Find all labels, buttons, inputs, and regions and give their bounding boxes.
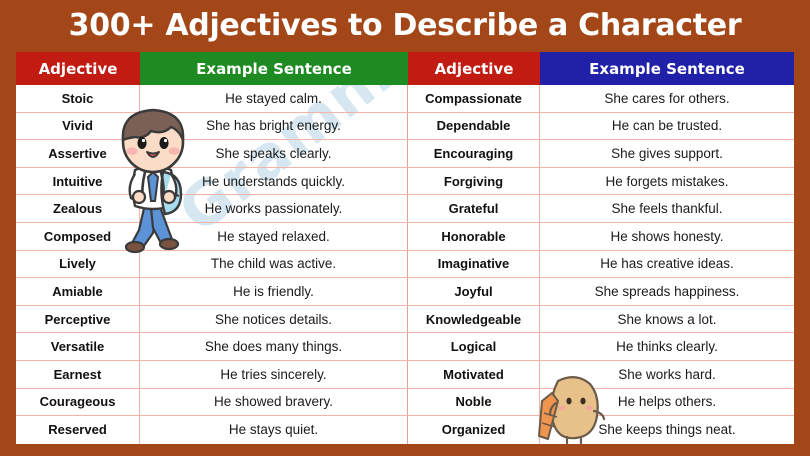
cell-adjective-right: Motivated [408, 361, 540, 388]
cell-adjective-right: Forgiving [408, 168, 540, 195]
cell-adjective-left: Composed [16, 223, 140, 250]
cell-sentence-left: She notices details. [140, 306, 408, 333]
cell-sentence-left: He is friendly. [140, 278, 408, 305]
cell-sentence-right: He can be trusted. [540, 113, 794, 140]
cell-adjective-right: Joyful [408, 278, 540, 305]
cell-sentence-left: He stayed calm. [140, 85, 408, 112]
table-row: EarnestHe tries sincerely.MotivatedShe w… [16, 361, 794, 389]
page-title: 300+ Adjectives to Describe a Character [69, 11, 742, 41]
table-row: ReservedHe stays quiet.OrganizedShe keep… [16, 416, 794, 444]
table-row: IntuitiveHe understands quickly.Forgivin… [16, 168, 794, 196]
cell-adjective-left: Versatile [16, 333, 140, 360]
cell-sentence-right: She feels thankful. [540, 195, 794, 222]
cell-sentence-left: He understands quickly. [140, 168, 408, 195]
cell-sentence-left: She does many things. [140, 333, 408, 360]
cell-sentence-right: She knows a lot. [540, 306, 794, 333]
adjectives-table: Grammareco Adjective Example Sentence Ad… [16, 52, 794, 444]
table-row: StoicHe stayed calm.CompassionateShe car… [16, 85, 794, 113]
table-body: StoicHe stayed calm.CompassionateShe car… [16, 85, 794, 444]
cell-adjective-right: Noble [408, 389, 540, 416]
column-header-adjective-left: Adjective [16, 52, 140, 85]
cell-adjective-left: Assertive [16, 140, 140, 167]
table-row: LivelyThe child was active.ImaginativeHe… [16, 251, 794, 279]
table-row: CourageousHe showed bravery.NobleHe help… [16, 389, 794, 417]
cell-adjective-right: Encouraging [408, 140, 540, 167]
infographic-page: 300+ Adjectives to Describe a Character … [0, 0, 810, 456]
table-row: AssertiveShe speaks clearly.EncouragingS… [16, 140, 794, 168]
table-row: AmiableHe is friendly.JoyfulShe spreads … [16, 278, 794, 306]
cell-sentence-right: She gives support. [540, 140, 794, 167]
cell-sentence-left: She speaks clearly. [140, 140, 408, 167]
cell-adjective-left: Zealous [16, 195, 140, 222]
cell-sentence-left: He showed bravery. [140, 389, 408, 416]
cell-sentence-right: He shows honesty. [540, 223, 794, 250]
cell-sentence-right: He has creative ideas. [540, 251, 794, 278]
table-row: ComposedHe stayed relaxed.HonorableHe sh… [16, 223, 794, 251]
table-row: PerceptiveShe notices details.Knowledgea… [16, 306, 794, 334]
table-row: VersatileShe does many things.LogicalHe … [16, 333, 794, 361]
title-banner: 300+ Adjectives to Describe a Character [0, 0, 810, 52]
cell-sentence-right: She keeps things neat. [540, 416, 794, 444]
cell-adjective-left: Intuitive [16, 168, 140, 195]
cell-sentence-right: She cares for others. [540, 85, 794, 112]
cell-sentence-left: He works passionately. [140, 195, 408, 222]
cell-adjective-left: Stoic [16, 85, 140, 112]
cell-adjective-right: Logical [408, 333, 540, 360]
cell-sentence-left: The child was active. [140, 251, 408, 278]
cell-adjective-right: Imaginative [408, 251, 540, 278]
cell-adjective-right: Compassionate [408, 85, 540, 112]
column-header-sentence-left: Example Sentence [140, 52, 408, 85]
table-row: VividShe has bright energy.DependableHe … [16, 113, 794, 141]
cell-sentence-right: He helps others. [540, 389, 794, 416]
cell-adjective-right: Knowledgeable [408, 306, 540, 333]
cell-sentence-left: She has bright energy. [140, 113, 408, 140]
cell-sentence-right: She spreads happiness. [540, 278, 794, 305]
cell-adjective-right: Grateful [408, 195, 540, 222]
column-header-sentence-right: Example Sentence [540, 52, 794, 85]
cell-adjective-left: Earnest [16, 361, 140, 388]
table-row: ZealousHe works passionately.GratefulShe… [16, 195, 794, 223]
cell-sentence-right: He thinks clearly. [540, 333, 794, 360]
cell-adjective-right: Honorable [408, 223, 540, 250]
cell-adjective-right: Dependable [408, 113, 540, 140]
cell-adjective-right: Organized [408, 416, 540, 444]
column-header-adjective-right: Adjective [408, 52, 540, 85]
cell-sentence-left: He stayed relaxed. [140, 223, 408, 250]
cell-adjective-left: Lively [16, 251, 140, 278]
cell-sentence-right: She works hard. [540, 361, 794, 388]
table-header-row: Adjective Example Sentence Adjective Exa… [16, 52, 794, 85]
cell-adjective-left: Perceptive [16, 306, 140, 333]
cell-adjective-left: Courageous [16, 389, 140, 416]
cell-adjective-left: Reserved [16, 416, 140, 444]
cell-adjective-left: Vivid [16, 113, 140, 140]
cell-adjective-left: Amiable [16, 278, 140, 305]
cell-sentence-right: He forgets mistakes. [540, 168, 794, 195]
cell-sentence-left: He stays quiet. [140, 416, 408, 444]
cell-sentence-left: He tries sincerely. [140, 361, 408, 388]
